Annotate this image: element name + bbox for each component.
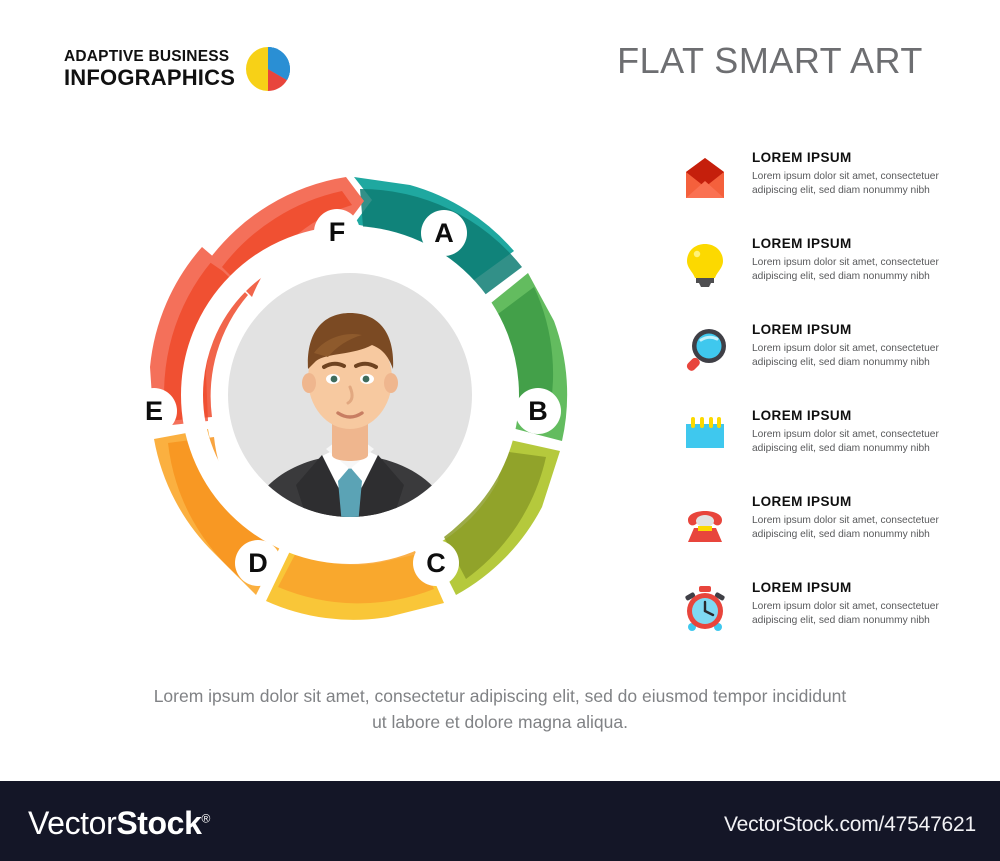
brand-logo: ADAPTIVE BUSINESS INFOGRAPHICS: [64, 46, 291, 92]
vectorstock-logo: VectorStock®: [28, 805, 210, 842]
registered-mark: ®: [201, 811, 209, 825]
segment-label-f[interactable]: F: [314, 209, 360, 255]
legend-body: LOREM IPSUM Lorem ipsum dolor sit amet, …: [752, 494, 972, 542]
legend-title: LOREM IPSUM: [752, 150, 972, 165]
legend-item-6[interactable]: LOREM IPSUM Lorem ipsum dolor sit amet, …: [680, 580, 980, 666]
legend-item-3[interactable]: LOREM IPSUM Lorem ipsum dolor sit amet, …: [680, 322, 980, 408]
footer-caption: Lorem ipsum dolor sit amet, consectetur …: [150, 683, 850, 736]
segment-label-e[interactable]: E: [131, 388, 177, 434]
legend-item-1[interactable]: LOREM IPSUM Lorem ipsum dolor sit amet, …: [680, 150, 980, 236]
vectorstock-logo-thin: Vector: [28, 805, 116, 841]
legend-body: LOREM IPSUM Lorem ipsum dolor sit amet, …: [752, 236, 972, 284]
legend-body: LOREM IPSUM Lorem ipsum dolor sit amet, …: [752, 150, 972, 198]
page-title: FLAT SMART ART: [560, 40, 980, 82]
vectorstock-logo-bold: Stock: [116, 805, 201, 841]
legend-title: LOREM IPSUM: [752, 408, 972, 423]
legend-desc: Lorem ipsum dolor sit amet, consectetuer…: [752, 428, 972, 456]
calendar-icon: [680, 412, 730, 462]
envelope-icon: [680, 154, 730, 204]
segment-label-b[interactable]: B: [515, 388, 561, 434]
legend-desc: Lorem ipsum dolor sit amet, consectetuer…: [752, 514, 972, 542]
legend-title: LOREM IPSUM: [752, 494, 972, 509]
brand-logo-line1: ADAPTIVE BUSINESS: [64, 49, 235, 65]
segment-label-d[interactable]: D: [235, 540, 281, 586]
legend-title: LOREM IPSUM: [752, 236, 972, 251]
legend-desc: Lorem ipsum dolor sit amet, consectetuer…: [752, 170, 972, 198]
legend-body: LOREM IPSUM Lorem ipsum dolor sit amet, …: [752, 580, 972, 628]
legend-body: LOREM IPSUM Lorem ipsum dolor sit amet, …: [752, 322, 972, 370]
alarm-clock-icon: [680, 584, 730, 634]
magnifying-glass-icon: [680, 326, 730, 376]
legend-item-5[interactable]: LOREM IPSUM Lorem ipsum dolor sit amet, …: [680, 494, 980, 580]
segment-label-c[interactable]: C: [413, 540, 459, 586]
legend-desc: Lorem ipsum dolor sit amet, consectetuer…: [752, 342, 972, 370]
legend-title: LOREM IPSUM: [752, 580, 972, 595]
legend-body: LOREM IPSUM Lorem ipsum dolor sit amet, …: [752, 408, 972, 456]
vectorstock-url: VectorStock.com/47547621: [724, 813, 976, 837]
watermark-bar: VectorStock® VectorStock.com/47547621: [0, 781, 1000, 861]
legend-item-2[interactable]: LOREM IPSUM Lorem ipsum dolor sit amet, …: [680, 236, 980, 322]
infographic-canvas: ADAPTIVE BUSINESS INFOGRAPHICS FLAT SMAR…: [0, 0, 1000, 861]
legend-list: LOREM IPSUM Lorem ipsum dolor sit amet, …: [680, 150, 980, 666]
legend-desc: Lorem ipsum dolor sit amet, consectetuer…: [752, 600, 972, 628]
segment-label-a[interactable]: A: [421, 210, 467, 256]
legend-desc: Lorem ipsum dolor sit amet, consectetuer…: [752, 256, 972, 284]
lightbulb-icon: [680, 240, 730, 290]
pie-chart-logo-icon: [245, 46, 291, 92]
legend-item-4[interactable]: LOREM IPSUM Lorem ipsum dolor sit amet, …: [680, 408, 980, 494]
brand-logo-text: ADAPTIVE BUSINESS INFOGRAPHICS: [64, 49, 235, 90]
brand-logo-line2: INFOGRAPHICS: [64, 67, 235, 89]
legend-title: LOREM IPSUM: [752, 322, 972, 337]
cycle-diagram: F A B C D E: [110, 155, 590, 635]
telephone-icon: [680, 498, 730, 548]
